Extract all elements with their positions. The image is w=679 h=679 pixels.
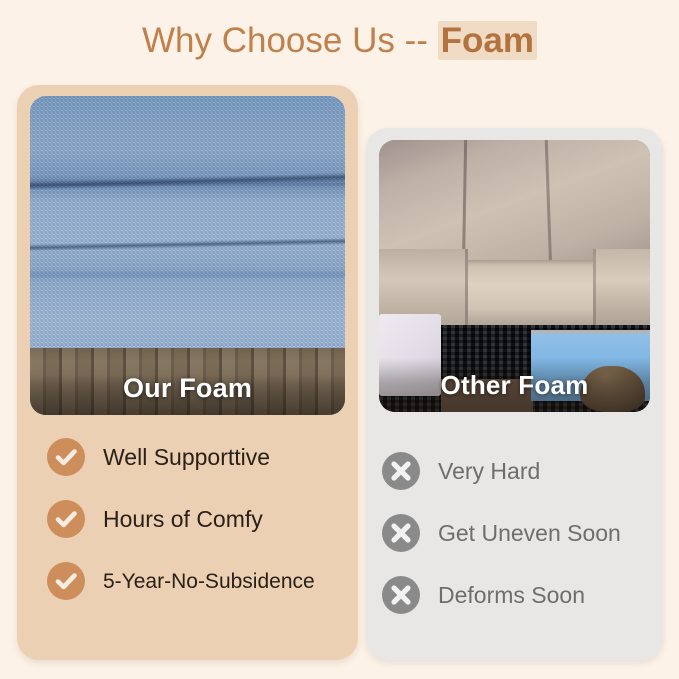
other-foam-feature-list: Very Hard Get Uneven Soon Deforms Soon: [382, 452, 664, 614]
x-circle-icon: [382, 452, 420, 490]
list-item-label: Well Supporttive: [103, 446, 270, 469]
page-title: Why Choose Us -- Foam: [142, 21, 537, 61]
other-foam-photo: Other Foam: [379, 140, 650, 412]
check-circle-icon: [47, 438, 85, 476]
our-foam-panel: Our Foam Well Supporttive Hours of Comfy: [17, 85, 358, 660]
page-title-accent: Foam: [438, 21, 537, 60]
our-foam-feature-list: Well Supporttive Hours of Comfy 5-Year-N…: [47, 438, 367, 600]
x-circle-icon: [382, 514, 420, 552]
other-foam-panel: Other Foam Very Hard Get Uneven Soon: [366, 128, 663, 660]
other-foam-caption-band: Other Foam: [379, 358, 650, 412]
list-item-label: Deforms Soon: [438, 584, 585, 607]
list-item-label: Very Hard: [438, 460, 540, 483]
list-item-label: Get Uneven Soon: [438, 522, 621, 545]
check-circle-icon: [47, 500, 85, 538]
page-header: Why Choose Us -- Foam: [0, 0, 679, 82]
page-title-prefix: Why Choose Us --: [142, 21, 438, 60]
list-item: 5-Year-No-Subsidence: [47, 562, 367, 600]
x-circle-icon: [382, 576, 420, 614]
list-item: Deforms Soon: [382, 576, 664, 614]
our-foam-caption-band: Our Foam: [30, 361, 345, 415]
our-foam-photo: Our Foam: [30, 96, 345, 415]
list-item: Very Hard: [382, 452, 664, 490]
our-foam-caption-text: Our Foam: [123, 373, 252, 404]
other-foam-caption-text: Other Foam: [441, 370, 589, 401]
list-item-label: Hours of Comfy: [103, 508, 263, 531]
sofa-seat-cushion-right: [593, 249, 650, 325]
list-item: Hours of Comfy: [47, 500, 367, 538]
list-item: Well Supporttive: [47, 438, 367, 476]
list-item-label: 5-Year-No-Subsidence: [103, 571, 315, 592]
list-item: Get Uneven Soon: [382, 514, 664, 552]
check-circle-icon: [47, 562, 85, 600]
